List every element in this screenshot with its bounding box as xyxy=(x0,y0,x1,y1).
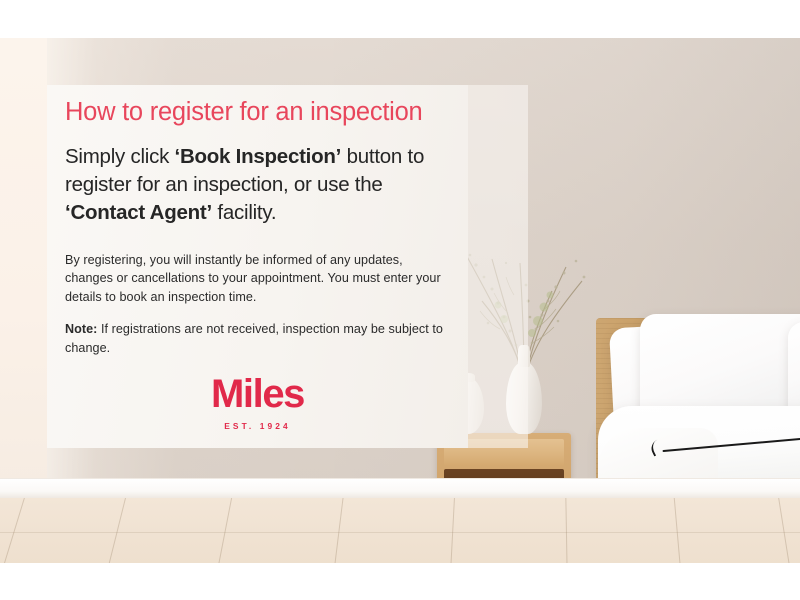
poster-canvas: How to register for an inspection Simply… xyxy=(0,0,800,600)
note-text: If registrations are not received, inspe… xyxy=(65,322,443,355)
wall-left-return-strip xyxy=(0,38,47,493)
wood-floor xyxy=(0,498,800,563)
letterbox-bar-bottom xyxy=(0,563,800,600)
logo-established-text: EST. 1924 xyxy=(47,421,468,431)
vase-tall xyxy=(506,362,542,434)
lede-paragraph: Simply click ‘Book Inspection’ button to… xyxy=(65,143,452,227)
lede-part-1: Simply click xyxy=(65,145,175,168)
page-title: How to register for an inspection xyxy=(65,98,452,126)
lede-emphasis-book-inspection: ‘Book Inspection’ xyxy=(175,145,342,168)
lede-emphasis-contact-agent: ‘Contact Agent’ xyxy=(65,201,212,224)
logo-wordmark: Miles xyxy=(47,374,468,414)
lede-part-3: facility. xyxy=(212,201,276,224)
info-card-content: How to register for an inspection Simply… xyxy=(65,98,452,357)
note-label: Note: xyxy=(65,322,97,336)
info-card: How to register for an inspection Simply… xyxy=(47,85,468,448)
body-paragraph: By registering, you will instantly be in… xyxy=(65,251,452,307)
letterbox-bar-top xyxy=(0,0,800,38)
brand-logo: Miles EST. 1924 xyxy=(47,374,468,431)
note-paragraph: Note: If registrations are not received,… xyxy=(65,320,452,357)
